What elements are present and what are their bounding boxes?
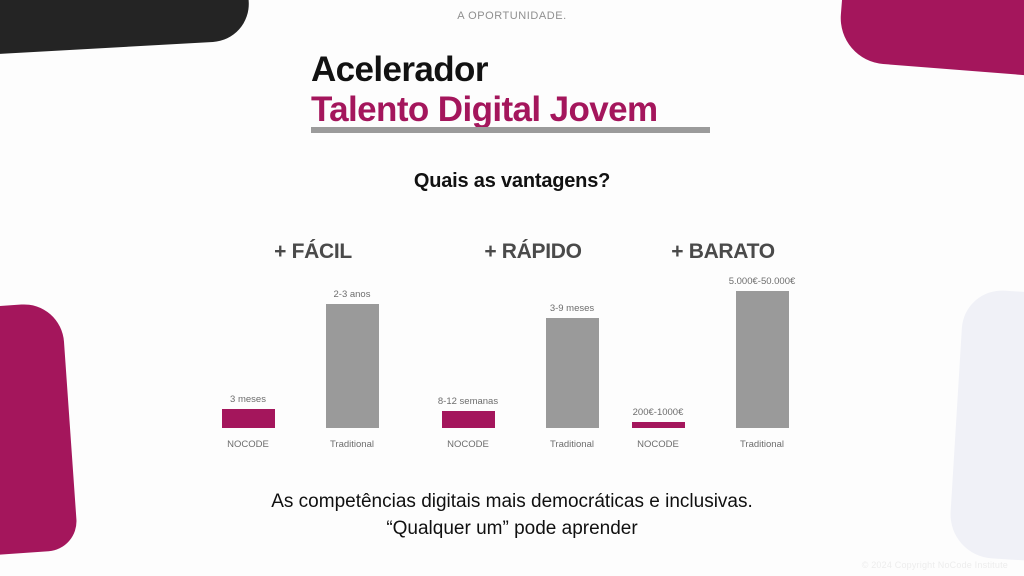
bar-value-label: 3 meses [180, 394, 316, 405]
decoration-top-left-dark-shape [0, 0, 251, 56]
bar-traditional [736, 291, 789, 428]
bar-traditional [326, 304, 379, 428]
chart-group-3: + BARATO200€-1000€NOCODE5.000€-50.000€Tr… [608, 230, 838, 455]
footer-copy-line-1: As competências digitais mais democrátic… [0, 488, 1024, 515]
bar-nocode [632, 422, 685, 428]
bar-column: 3 mesesNOCODE [198, 275, 298, 455]
chart-plot-area: 3 mesesNOCODE2-3 anosTraditional [198, 275, 428, 455]
bar-category-label: Traditional [694, 439, 830, 450]
footer-copy: As competências digitais mais democrátic… [0, 488, 1024, 542]
bar-nocode [442, 411, 495, 428]
bar-nocode [222, 409, 275, 428]
chart-group-heading: + BARATO [608, 240, 838, 264]
chart-group-1: + FÁCIL3 mesesNOCODE2-3 anosTraditional [198, 230, 428, 455]
bar-column: 5.000€-50.000€Traditional [712, 275, 812, 455]
comparison-bar-chart: + FÁCIL3 mesesNOCODE2-3 anosTraditional+… [0, 230, 1024, 455]
page-title-line-1: Acelerador [311, 50, 951, 90]
footer-copy-line-2: “Qualquer um” pode aprender [0, 515, 1024, 542]
bar-column: 3-9 mesesTraditional [522, 275, 622, 455]
chart-group-heading: + FÁCIL [198, 240, 428, 264]
copyright-notice: © 2024 Copyright NoCode Institute [862, 560, 1008, 570]
bar-column: 200€-1000€NOCODE [608, 275, 708, 455]
page-title-line-2: Talento Digital Jovem [311, 90, 951, 130]
bar-column: 8-12 semanasNOCODE [418, 275, 518, 455]
eyebrow-label: A OPORTUNIDADE. [0, 10, 1024, 22]
title-underline-rule [311, 127, 710, 133]
bar-value-label: 200€-1000€ [590, 407, 726, 418]
page-title: Acelerador Talento Digital Jovem [311, 50, 951, 130]
bar-value-label: 8-12 semanas [400, 396, 536, 407]
slide-canvas: A OPORTUNIDADE. Acelerador Talento Digit… [0, 0, 1024, 576]
bar-value-label: 2-3 anos [284, 289, 420, 300]
section-heading: Quais as vantagens? [0, 170, 1024, 193]
bar-column: 2-3 anosTraditional [302, 275, 402, 455]
bar-value-label: 5.000€-50.000€ [694, 276, 830, 287]
chart-plot-area: 200€-1000€NOCODE5.000€-50.000€Traditiona… [608, 275, 838, 455]
